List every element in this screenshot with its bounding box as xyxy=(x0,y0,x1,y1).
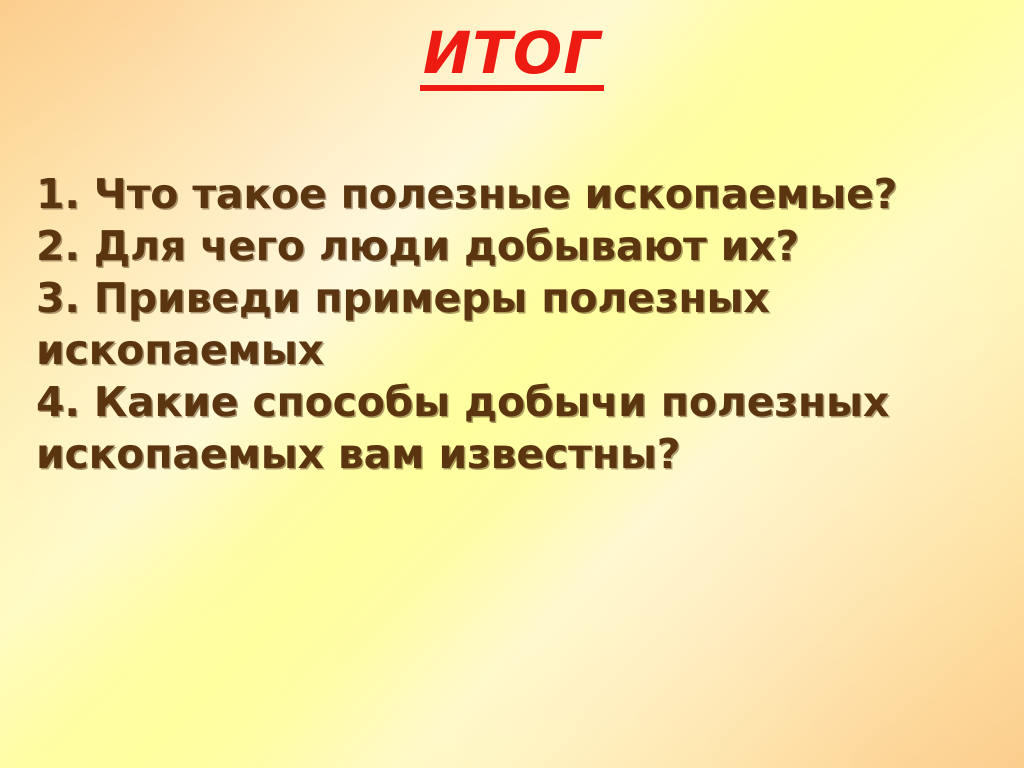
slide-title-block: ИТОГ xyxy=(0,24,1024,91)
slide-content: ИТОГ 1. Что такое полезные ископаемые? 2… xyxy=(0,0,1024,768)
slide-title: ИТОГ xyxy=(419,24,605,82)
question-item-3: 3. Приведи примеры полезных ископаемых xyxy=(36,272,1006,376)
question-item-1: 1. Что такое полезные ископаемые? xyxy=(36,168,1006,220)
question-list: 1. Что такое полезные ископаемые? 2. Для… xyxy=(36,168,1006,480)
question-item-4: 4. Какие способы добычи полезных ископае… xyxy=(36,376,1006,480)
question-item-2: 2. Для чего люди добывают их? xyxy=(36,220,1006,272)
presentation-slide: ИТОГ 1. Что такое полезные ископаемые? 2… xyxy=(0,0,1024,768)
